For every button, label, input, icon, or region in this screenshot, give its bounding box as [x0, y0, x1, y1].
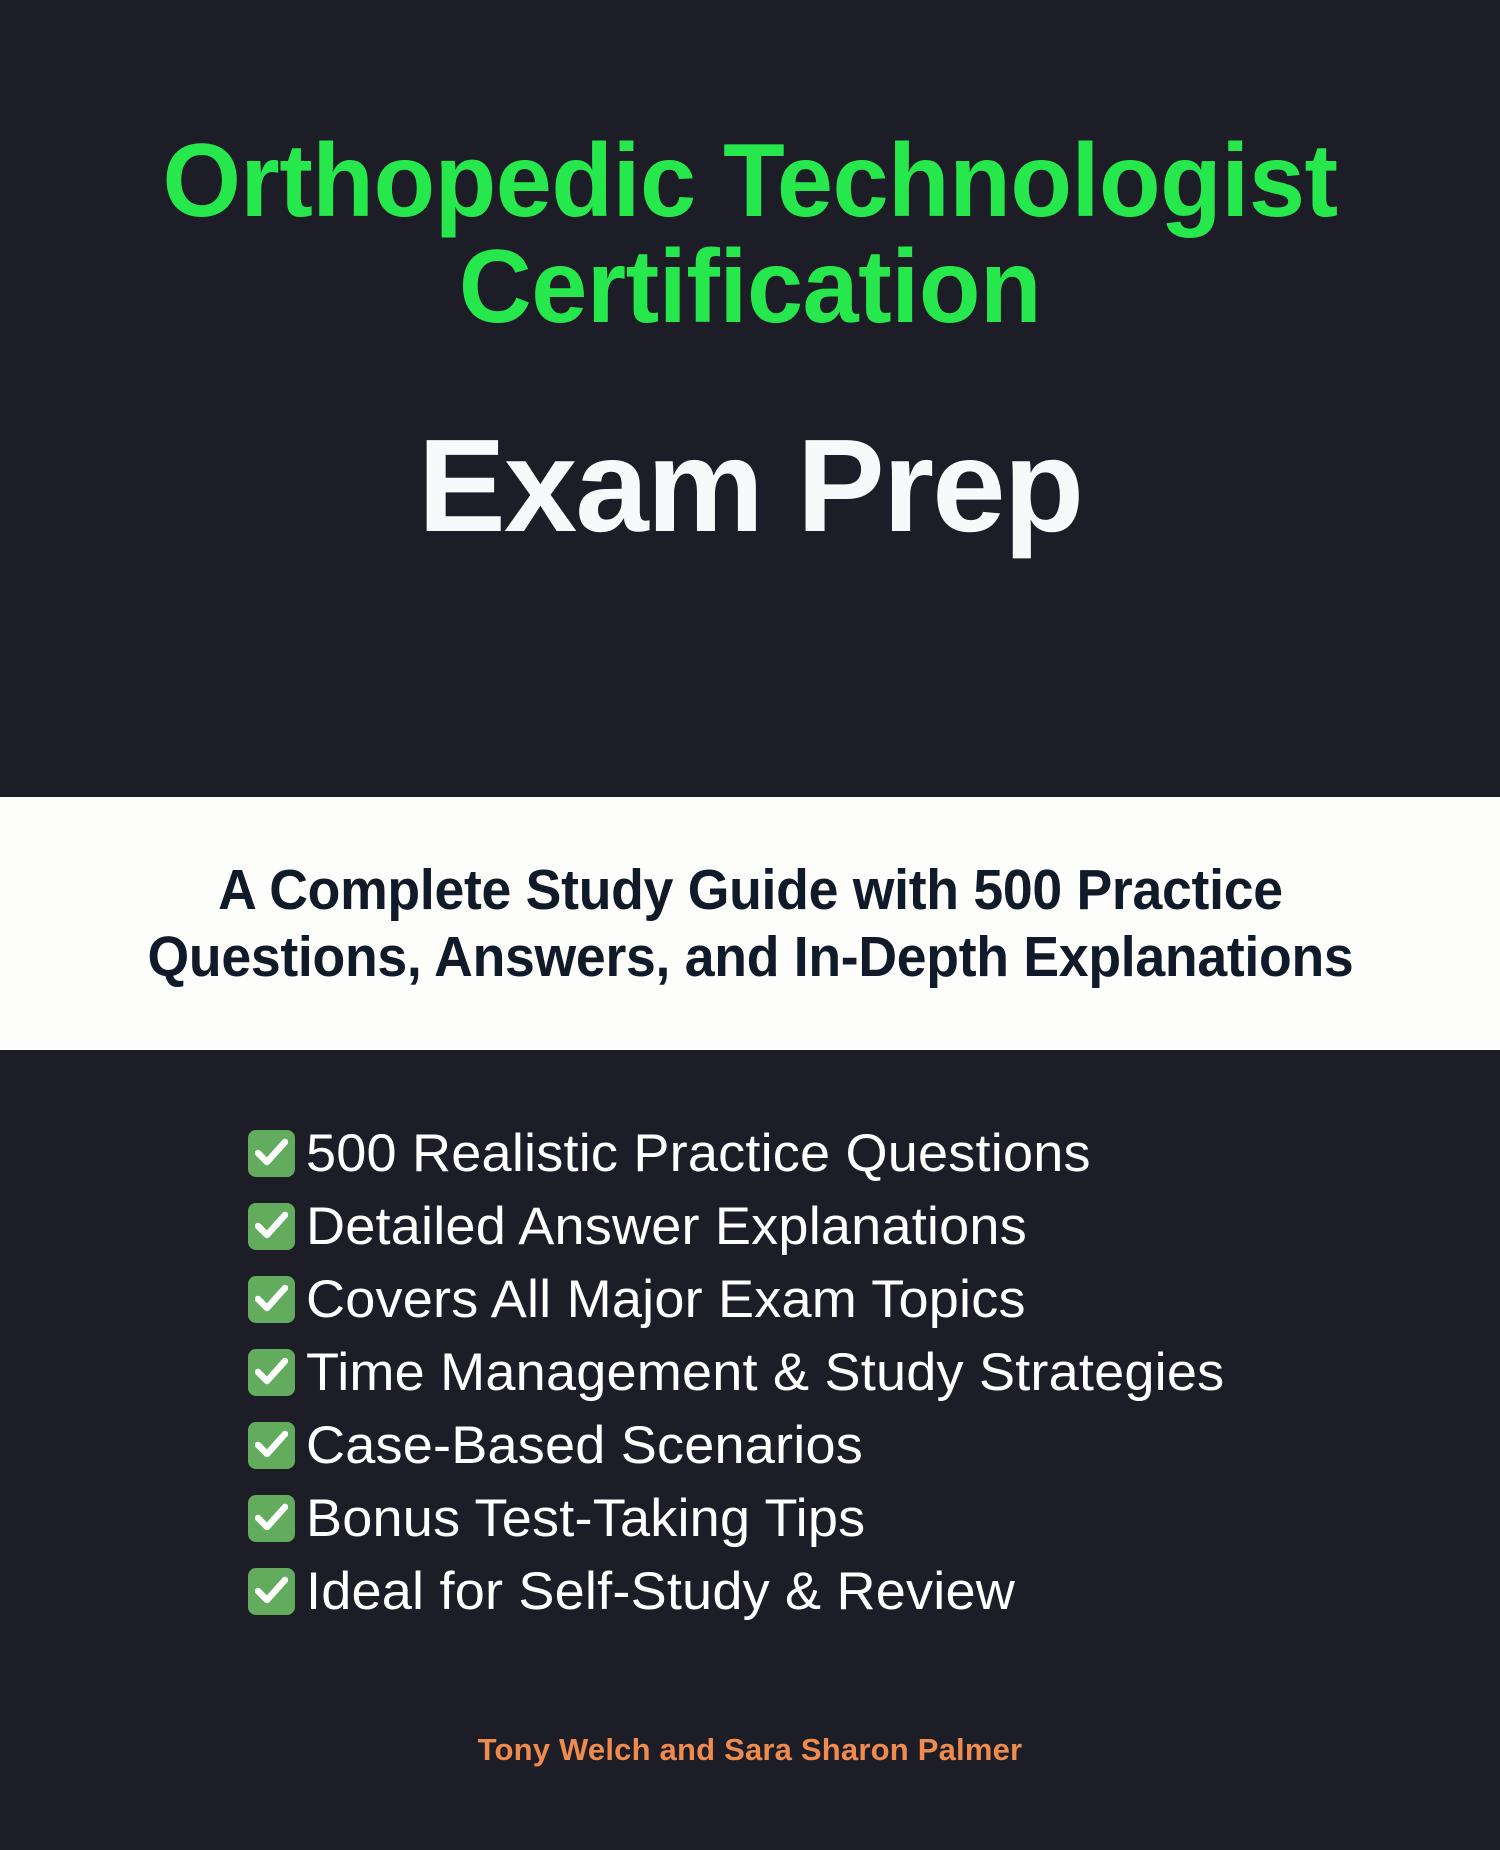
- white-check-mark-icon: [248, 1422, 295, 1469]
- feature-label: 500 Realistic Practice Questions: [306, 1127, 1091, 1180]
- list-item: 500 Realistic Practice Questions: [248, 1122, 1368, 1185]
- white-check-mark-icon: [248, 1130, 295, 1177]
- list-item: Bonus Test-Taking Tips: [248, 1487, 1368, 1550]
- feature-label: Bonus Test-Taking Tips: [306, 1492, 865, 1545]
- feature-label: Covers All Major Exam Topics: [306, 1273, 1026, 1326]
- list-item: Time Management & Study Strategies: [248, 1341, 1368, 1404]
- feature-label: Ideal for Self-Study & Review: [306, 1565, 1015, 1618]
- subtitle-banner-text: A Complete Study Guide with 500 Practice…: [121, 857, 1380, 989]
- list-item: Case-Based Scenarios: [248, 1414, 1368, 1477]
- white-check-mark-icon: [248, 1349, 295, 1396]
- list-item: Ideal for Self-Study & Review: [248, 1560, 1368, 1623]
- book-subtitle: Exam Prep: [0, 420, 1500, 552]
- white-check-mark-icon: [248, 1568, 295, 1615]
- feature-label: Detailed Answer Explanations: [306, 1200, 1027, 1253]
- feature-label: Time Management & Study Strategies: [306, 1346, 1224, 1399]
- white-check-mark-icon: [248, 1276, 295, 1323]
- list-item: Detailed Answer Explanations: [248, 1195, 1368, 1258]
- feature-list: 500 Realistic Practice Questions Detaile…: [248, 1122, 1368, 1633]
- white-check-mark-icon: [248, 1203, 295, 1250]
- cover-top-panel: Orthopedic Technologist Certification Ex…: [0, 0, 1500, 797]
- author-byline: Tony Welch and Sara Sharon Palmer: [0, 1732, 1500, 1768]
- title-block: Orthopedic Technologist Certification: [0, 128, 1500, 340]
- book-cover: Orthopedic Technologist Certification Ex…: [0, 0, 1500, 1850]
- book-title: Orthopedic Technologist Certification: [23, 128, 1478, 340]
- list-item: Covers All Major Exam Topics: [248, 1268, 1368, 1331]
- feature-label: Case-Based Scenarios: [306, 1419, 863, 1472]
- white-check-mark-icon: [248, 1495, 295, 1542]
- subtitle-banner: A Complete Study Guide with 500 Practice…: [0, 797, 1500, 1050]
